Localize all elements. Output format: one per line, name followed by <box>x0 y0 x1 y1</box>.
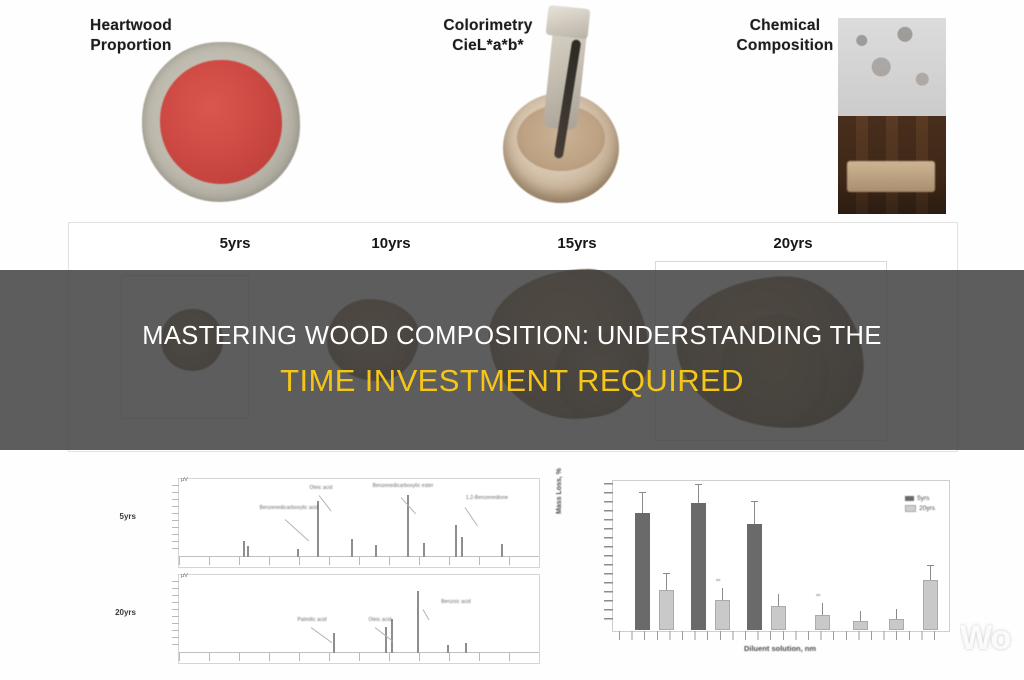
chromatogram-5yrs: µV Benzenedicarboxylic acid Oleic acid <box>178 478 540 568</box>
bar <box>747 524 762 630</box>
error-bar <box>860 611 861 621</box>
chromatogram-peak <box>423 543 425 557</box>
bar-chart-y-axis-label: Mass Loss, % <box>556 468 563 514</box>
age-label-15yrs: 15yrs <box>517 235 637 252</box>
chromatogram-peak <box>297 549 299 557</box>
chromatogram-peak <box>391 619 393 653</box>
annotation-leader <box>311 627 333 643</box>
age-label-20yrs: 20yrs <box>733 235 853 252</box>
legend-label-5yrs: 5yrs <box>917 495 929 502</box>
chromatogram-x-ticks <box>179 557 539 565</box>
chromatogram-peak <box>375 545 377 557</box>
sample-tray <box>847 161 936 192</box>
chromatogram-annotation: Oleic acid <box>357 617 403 623</box>
bar-chart-y-ticks <box>604 483 613 627</box>
chromatogram-peak <box>333 633 335 653</box>
chromatogram-panel: 5yrs µV Benzenedicarboxylic acid <box>136 474 540 670</box>
heartwood-core <box>160 60 282 184</box>
annotation-leader <box>423 609 430 620</box>
chromatogram-annotation: Benzoic acid <box>427 599 485 605</box>
chromatogram-row-label-5yrs: 5yrs <box>102 512 136 521</box>
error-cap <box>927 565 934 566</box>
bar-chart-legend: 5yrs 20yrs <box>905 495 935 515</box>
chromatogram-y-ticks <box>172 485 179 553</box>
age-label-5yrs: 5yrs <box>175 235 295 252</box>
bar <box>889 619 904 630</box>
plots-row: 5yrs µV Benzenedicarboxylic acid <box>0 462 1024 680</box>
chromatogram-peak <box>243 541 245 557</box>
chromatogram-peak <box>385 627 387 653</box>
chromatogram-peak <box>247 546 249 557</box>
error-bar <box>778 594 779 606</box>
legend-swatch-5yrs <box>905 496 914 501</box>
chromatogram-peak <box>455 525 457 557</box>
chromatogram-annotation: 1,2-Benzenedione <box>451 495 523 501</box>
error-bar <box>754 502 755 524</box>
colorimeter-head <box>546 5 591 39</box>
chromatogram-peak <box>447 645 449 653</box>
watermark: Wo <box>960 619 1018 658</box>
chromatogram-row-label-20yrs: 20yrs <box>102 608 136 617</box>
error-bar <box>722 588 723 600</box>
chromatogram-peak <box>461 537 463 557</box>
bar <box>853 621 868 630</box>
bar <box>635 513 650 630</box>
bar <box>691 503 706 630</box>
bar <box>715 600 730 630</box>
chromatogram-20yrs: µV Palmitic acid Oleic acid Benzoic acid <box>178 574 540 664</box>
error-bar <box>896 609 897 619</box>
legend-entry-20yrs: 20yrs <box>905 505 935 512</box>
bar <box>771 606 786 630</box>
age-label-10yrs: 10yrs <box>331 235 451 252</box>
bar-plot-area: 5yrs 20yrs <box>612 480 950 632</box>
chromatogram-annotation: Benzenedicarboxylic acid <box>251 505 327 511</box>
error-bar <box>930 566 931 580</box>
colorimeter-photo <box>497 5 625 210</box>
annotation-leader <box>465 507 478 526</box>
error-bar <box>642 493 643 513</box>
chemical-composition-photo <box>838 18 946 214</box>
bar <box>659 590 674 630</box>
annotation-leader <box>285 519 309 541</box>
bar-chart-x-ticks <box>619 631 939 640</box>
bar-chart-x-axis-label: Diluent solution, nm <box>612 644 948 653</box>
chromatogram-annotation: Oleic acid <box>289 485 353 491</box>
heartwood-cross-section-image <box>142 42 300 202</box>
mass-loss-bar-chart: 5yrs 20yrs <box>578 474 970 674</box>
error-cap <box>663 573 670 574</box>
chromatogram-annotation: Palmitic acid <box>285 617 339 623</box>
error-cap <box>695 484 702 485</box>
error-cap <box>639 492 646 493</box>
chromatogram-peak <box>465 643 467 653</box>
bar <box>815 615 830 630</box>
chromatogram-unit-5yrs: µV <box>181 477 188 483</box>
chromatogram-y-ticks <box>172 581 179 649</box>
chromatogram-x-ticks <box>179 653 539 661</box>
lab-bench-upper <box>838 18 946 120</box>
error-bar <box>822 603 823 615</box>
error-bar <box>698 485 699 503</box>
chromatogram-unit-20yrs: µV <box>181 573 188 579</box>
chromatogram-annotation: Benzenedicarboxylic ester <box>365 483 441 489</box>
title-overlay-banner: MASTERING WOOD COMPOSITION: UNDERSTANDIN… <box>0 270 1024 450</box>
methods-row: Heartwood Proportion Colorimetry CieL*a*… <box>0 0 1024 218</box>
bar <box>923 580 938 630</box>
legend-swatch-20yrs <box>905 505 916 512</box>
annotation-leader <box>375 627 393 641</box>
research-figure: Heartwood Proportion Colorimetry CieL*a*… <box>0 0 1024 680</box>
overlay-title-line1: MASTERING WOOD COMPOSITION: UNDERSTANDIN… <box>142 322 882 350</box>
chromatogram-peak <box>417 591 419 653</box>
chromatogram-peak <box>501 544 503 557</box>
error-bar <box>666 574 667 590</box>
error-cap <box>751 501 758 502</box>
chromatogram-peak <box>351 539 353 557</box>
legend-entry-5yrs: 5yrs <box>905 495 935 502</box>
overlay-title-line2: TIME INVESTMENT REQUIRED <box>280 364 744 398</box>
legend-label-20yrs: 20yrs <box>919 505 935 512</box>
